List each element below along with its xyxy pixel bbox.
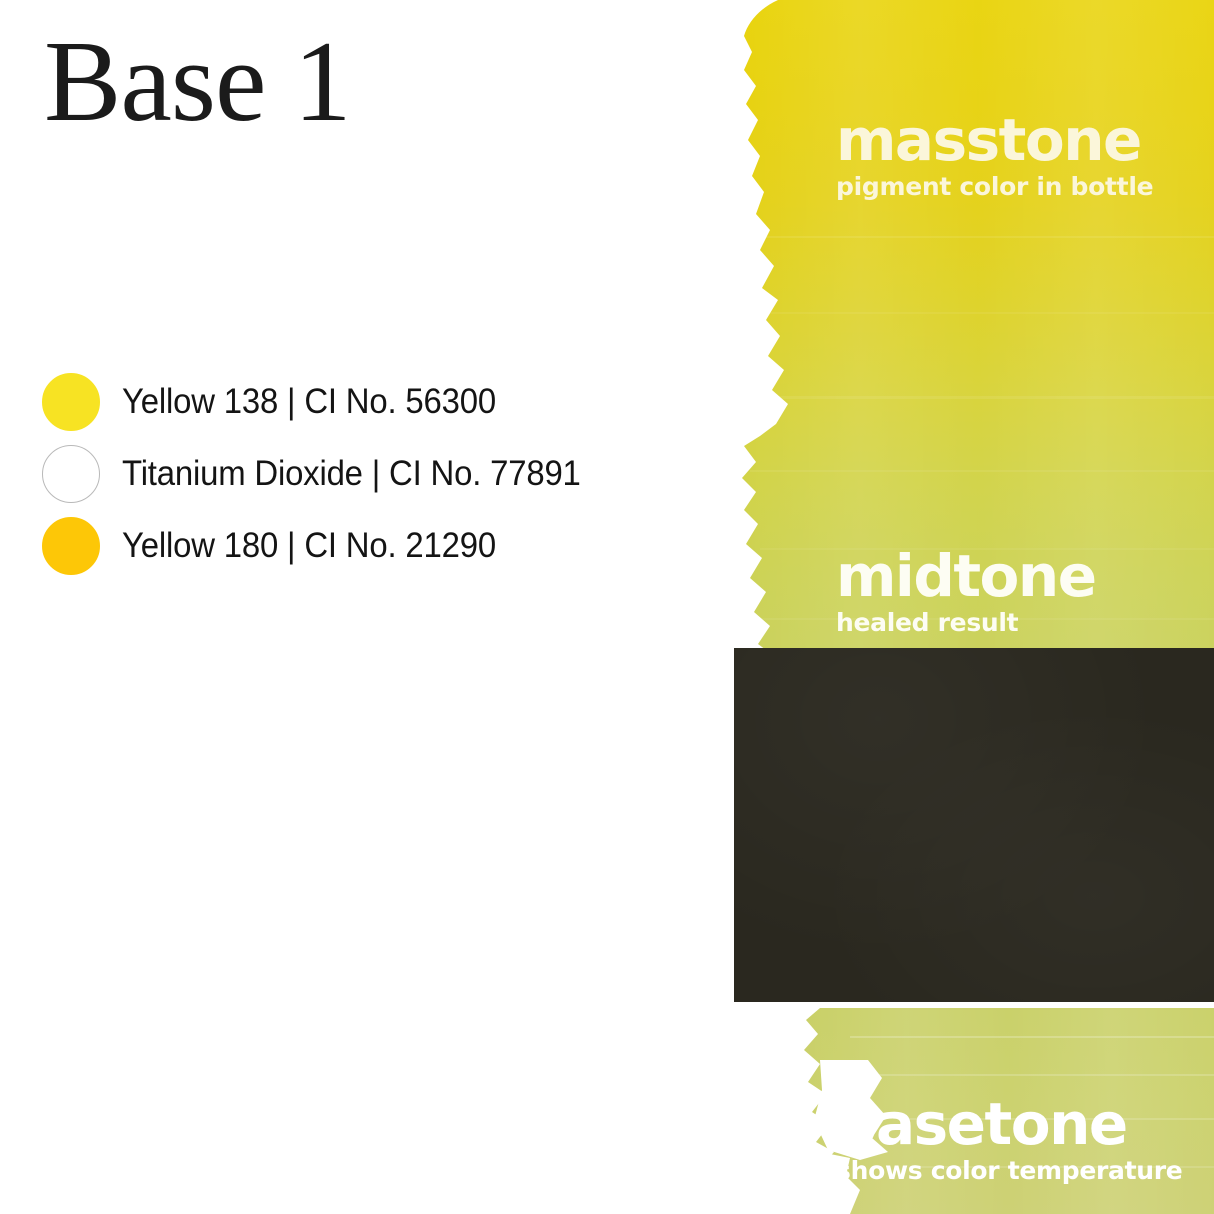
basetone-title: basetone (836, 1096, 1182, 1153)
healed-skin-patch (734, 648, 1214, 1002)
color-chart-page: Base 1 Yellow 138 | CI No. 56300 Titaniu… (0, 0, 1214, 1214)
basetone-subtitle: shows color temperature (836, 1157, 1182, 1185)
masstone-label-group: masstone pigment color in bottle (836, 112, 1153, 200)
pigment-swatch-dot (42, 373, 100, 431)
masstone-subtitle: pigment color in bottle (836, 173, 1153, 201)
pigment-label: Titanium Dioxide | CI No. 77891 (122, 454, 581, 494)
pigment-list: Yellow 138 | CI No. 56300 Titanium Dioxi… (42, 366, 702, 582)
list-item: Yellow 138 | CI No. 56300 (42, 366, 702, 438)
pigment-label: Yellow 138 | CI No. 56300 (122, 382, 496, 422)
midtone-label-group: midtone healed result (836, 548, 1096, 636)
midtone-subtitle: healed result (836, 609, 1096, 637)
pigment-label: Yellow 180 | CI No. 21290 (122, 526, 496, 566)
basetone-label-group: basetone shows color temperature (836, 1096, 1182, 1184)
midtone-title: midtone (836, 548, 1096, 605)
page-title: Base 1 (44, 22, 351, 144)
masstone-title: masstone (836, 112, 1153, 169)
list-item: Yellow 180 | CI No. 21290 (42, 510, 702, 582)
pigment-swatch-dot (42, 445, 100, 503)
list-item: Titanium Dioxide | CI No. 77891 (42, 438, 702, 510)
pigment-swatch-dot (42, 517, 100, 575)
